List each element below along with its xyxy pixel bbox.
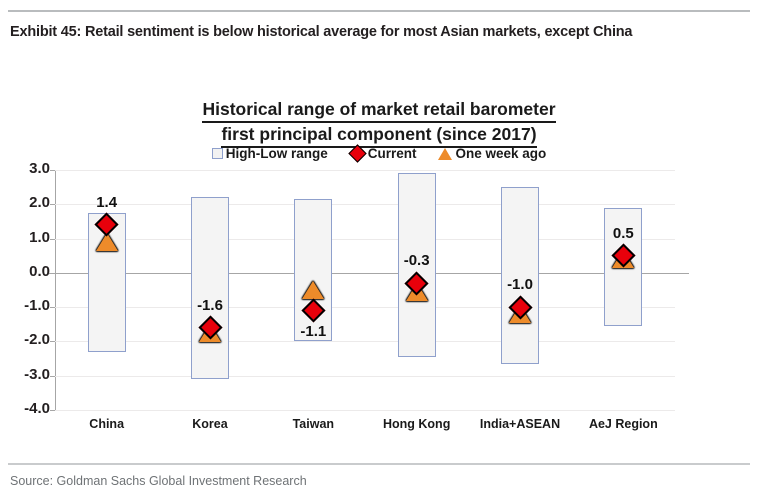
legend-item-week-ago[interactable]: One week ago <box>438 146 546 161</box>
y-axis-tick <box>50 376 55 377</box>
y-axis-tick-label: -3.0 <box>4 366 50 383</box>
gridline <box>55 307 675 308</box>
exhibit-title: Exhibit 45: Retail sentiment is below hi… <box>10 22 730 43</box>
x-axis-tick-label: Hong Kong <box>365 417 468 431</box>
chart-container: Historical range of market retail barome… <box>0 92 758 447</box>
legend-label-week-ago: One week ago <box>455 146 546 161</box>
y-axis-tick-label: 3.0 <box>4 160 50 177</box>
y-axis-tick <box>50 170 55 171</box>
gridline <box>55 239 675 240</box>
y-axis-labels: 3.02.01.00.0-1.0-2.0-3.0-4.0 <box>0 170 50 410</box>
data-label: -1.0 <box>485 276 555 293</box>
data-label: 0.5 <box>588 225 658 242</box>
plot-area: 1.4-1.6-1.1-0.3-1.00.5 <box>55 170 675 410</box>
x-axis-tick-label: Taiwan <box>262 417 365 431</box>
legend-item-range[interactable]: High-Low range <box>212 146 328 161</box>
gridline <box>55 170 675 171</box>
y-axis-line <box>55 170 56 410</box>
y-axis-tick <box>50 204 55 205</box>
y-axis-tick-label: 0.0 <box>4 263 50 280</box>
data-label: -1.6 <box>175 297 245 314</box>
gridline <box>55 204 675 205</box>
legend-label-current: Current <box>368 146 417 161</box>
legend-label-range: High-Low range <box>226 146 328 161</box>
y-axis-tick <box>50 239 55 240</box>
y-axis-tick-label: -1.0 <box>4 297 50 314</box>
range-bar <box>191 197 229 379</box>
triangle-marker-icon <box>438 148 452 160</box>
y-axis-tick <box>50 307 55 308</box>
x-axis-tick-label: India+ASEAN <box>468 417 571 431</box>
legend-item-current[interactable]: Current <box>350 146 417 161</box>
chart-title: Historical range of market retail barome… <box>129 98 629 148</box>
y-axis-tick-label: 1.0 <box>4 229 50 246</box>
y-axis-tick-label: 2.0 <box>4 194 50 211</box>
y-axis-tick-label: -2.0 <box>4 331 50 348</box>
data-label: -1.1 <box>278 323 348 340</box>
chart-title-line-2: first principal component (since 2017) <box>221 123 536 148</box>
source-note: Source: Goldman Sachs Global Investment … <box>10 474 307 488</box>
x-axis-labels: ChinaKoreaTaiwanHong KongIndia+ASEANAeJ … <box>55 417 675 439</box>
gridline <box>55 376 675 377</box>
chart-title-line-1: Historical range of market retail barome… <box>202 98 555 123</box>
y-axis-tick <box>50 410 55 411</box>
x-axis-tick-label: AeJ Region <box>572 417 675 431</box>
gridline <box>55 410 675 411</box>
zero-axis-line <box>49 273 689 274</box>
x-axis-tick-label: Korea <box>158 417 261 431</box>
footer-divider <box>8 463 750 465</box>
y-axis-tick <box>50 341 55 342</box>
header-divider <box>8 10 750 12</box>
week-ago-marker <box>302 281 324 299</box>
x-axis-tick-label: China <box>55 417 158 431</box>
range-square-icon <box>212 148 223 159</box>
chart-legend: High-Low range Current One week ago <box>129 146 629 161</box>
data-label: -0.3 <box>382 252 452 269</box>
data-label: 1.4 <box>72 194 142 211</box>
diamond-marker-icon <box>348 144 366 162</box>
y-axis-tick-label: -4.0 <box>4 400 50 417</box>
gridline <box>55 341 675 342</box>
